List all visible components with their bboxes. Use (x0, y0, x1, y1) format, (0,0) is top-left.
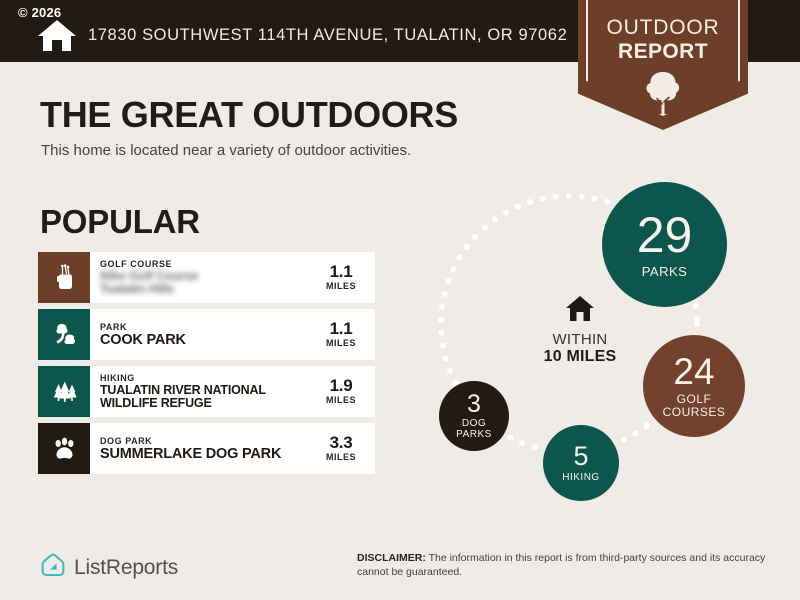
stat-value: 3 (467, 392, 481, 417)
list-item-category: PARK (100, 322, 313, 333)
list-item-distance: 3.3 MILES (313, 423, 375, 474)
list-item-category: GOLF COURSE (100, 259, 313, 270)
stat-value: 5 (573, 443, 588, 470)
stat-bubble-hiking[interactable]: 5 HIKING (543, 425, 619, 501)
stat-value: 24 (673, 353, 714, 390)
listreports-logo-text: ListReports (74, 556, 178, 580)
stat-label: HIKING (562, 473, 599, 484)
stat-bubble-parks[interactable]: 29 PARKS (602, 182, 727, 307)
list-item-category: HIKING (100, 373, 313, 384)
listreports-logo[interactable]: ListReports (40, 552, 178, 583)
page-title: THE GREAT OUTDOORS (40, 94, 458, 136)
outdoor-amenities-diagram: 29 PARKS 24 GOLF COURSES 3 DOG PARKS 5 H… (415, 170, 785, 520)
list-item-distance: 1.1 MILES (313, 309, 375, 360)
list-item-name: COOK PARK (100, 333, 313, 348)
distance-value: 1.9 (330, 377, 353, 395)
outdoor-report-badge: OUTDOOR REPORT (578, 0, 748, 130)
distance-unit: MILES (326, 338, 356, 349)
park-tree-icon (38, 309, 90, 360)
golf-bag-icon (38, 252, 90, 303)
stat-label: DOG PARKS (456, 419, 492, 440)
popular-list: GOLF COURSE Nike Golf Course Tualatin Hi… (38, 252, 375, 480)
list-item-name: Nike Golf Course Tualatin Hills (100, 270, 313, 297)
distance-unit: MILES (326, 395, 356, 406)
distance-value: 1.1 (330, 320, 353, 338)
center-note-line1: WITHIN (520, 331, 640, 348)
list-item[interactable]: HIKING TUALATIN RIVER NATIONAL WILDLIFE … (38, 366, 375, 417)
pine-trees-icon (38, 366, 90, 417)
list-item-text: DOG PARK SUMMERLAKE DOG PARK (90, 423, 313, 474)
disclaimer: DISCLAIMER: The information in this repo… (357, 551, 777, 579)
page-subtitle: This home is located near a variety of o… (41, 142, 411, 159)
stat-bubble-golf-courses[interactable]: 24 GOLF COURSES (643, 335, 745, 437)
listreports-house-tag-icon (40, 552, 66, 583)
list-item[interactable]: GOLF COURSE Nike Golf Course Tualatin Hi… (38, 252, 375, 303)
badge-title: OUTDOOR REPORT (578, 16, 748, 64)
distance-value: 1.1 (330, 263, 353, 281)
stat-bubble-dog-parks[interactable]: 3 DOG PARKS (439, 381, 509, 451)
badge-title-line2: REPORT (578, 40, 748, 64)
list-item-name: TUALATIN RIVER NATIONAL WILDLIFE REFUGE (100, 384, 313, 411)
tree-icon (642, 70, 684, 115)
distance-unit: MILES (326, 452, 356, 463)
distance-unit: MILES (326, 281, 356, 292)
popular-section-heading: POPULAR (40, 203, 200, 241)
list-item-distance: 1.1 MILES (313, 252, 375, 303)
outdoor-report-page: © 2026 17830 SOUTHWEST 114TH AVENUE, TUA… (0, 0, 800, 600)
distance-value: 3.3 (330, 434, 353, 452)
disclaimer-label: DISCLAIMER: (357, 552, 426, 564)
property-address: 17830 SOUTHWEST 114TH AVENUE, TUALATIN, … (88, 26, 567, 45)
badge-title-line1: OUTDOOR (578, 16, 748, 40)
center-note-line2: 10 MILES (520, 348, 640, 366)
home-icon (565, 309, 595, 326)
stat-value: 29 (637, 210, 693, 260)
stat-label: PARKS (642, 265, 688, 279)
list-item-text: PARK COOK PARK (90, 309, 313, 360)
list-item-distance: 1.9 MILES (313, 366, 375, 417)
home-icon (36, 18, 78, 52)
diagram-center-note: WITHIN 10 MILES (520, 295, 640, 366)
list-item-category: DOG PARK (100, 436, 313, 447)
list-item-text: HIKING TUALATIN RIVER NATIONAL WILDLIFE … (90, 366, 313, 417)
list-item[interactable]: PARK COOK PARK 1.1 MILES (38, 309, 375, 360)
stat-label: GOLF COURSES (663, 393, 726, 418)
list-item[interactable]: DOG PARK SUMMERLAKE DOG PARK 3.3 MILES (38, 423, 375, 474)
list-item-text: GOLF COURSE Nike Golf Course Tualatin Hi… (90, 252, 313, 303)
paw-print-icon (38, 423, 90, 474)
list-item-name: SUMMERLAKE DOG PARK (100, 447, 313, 462)
